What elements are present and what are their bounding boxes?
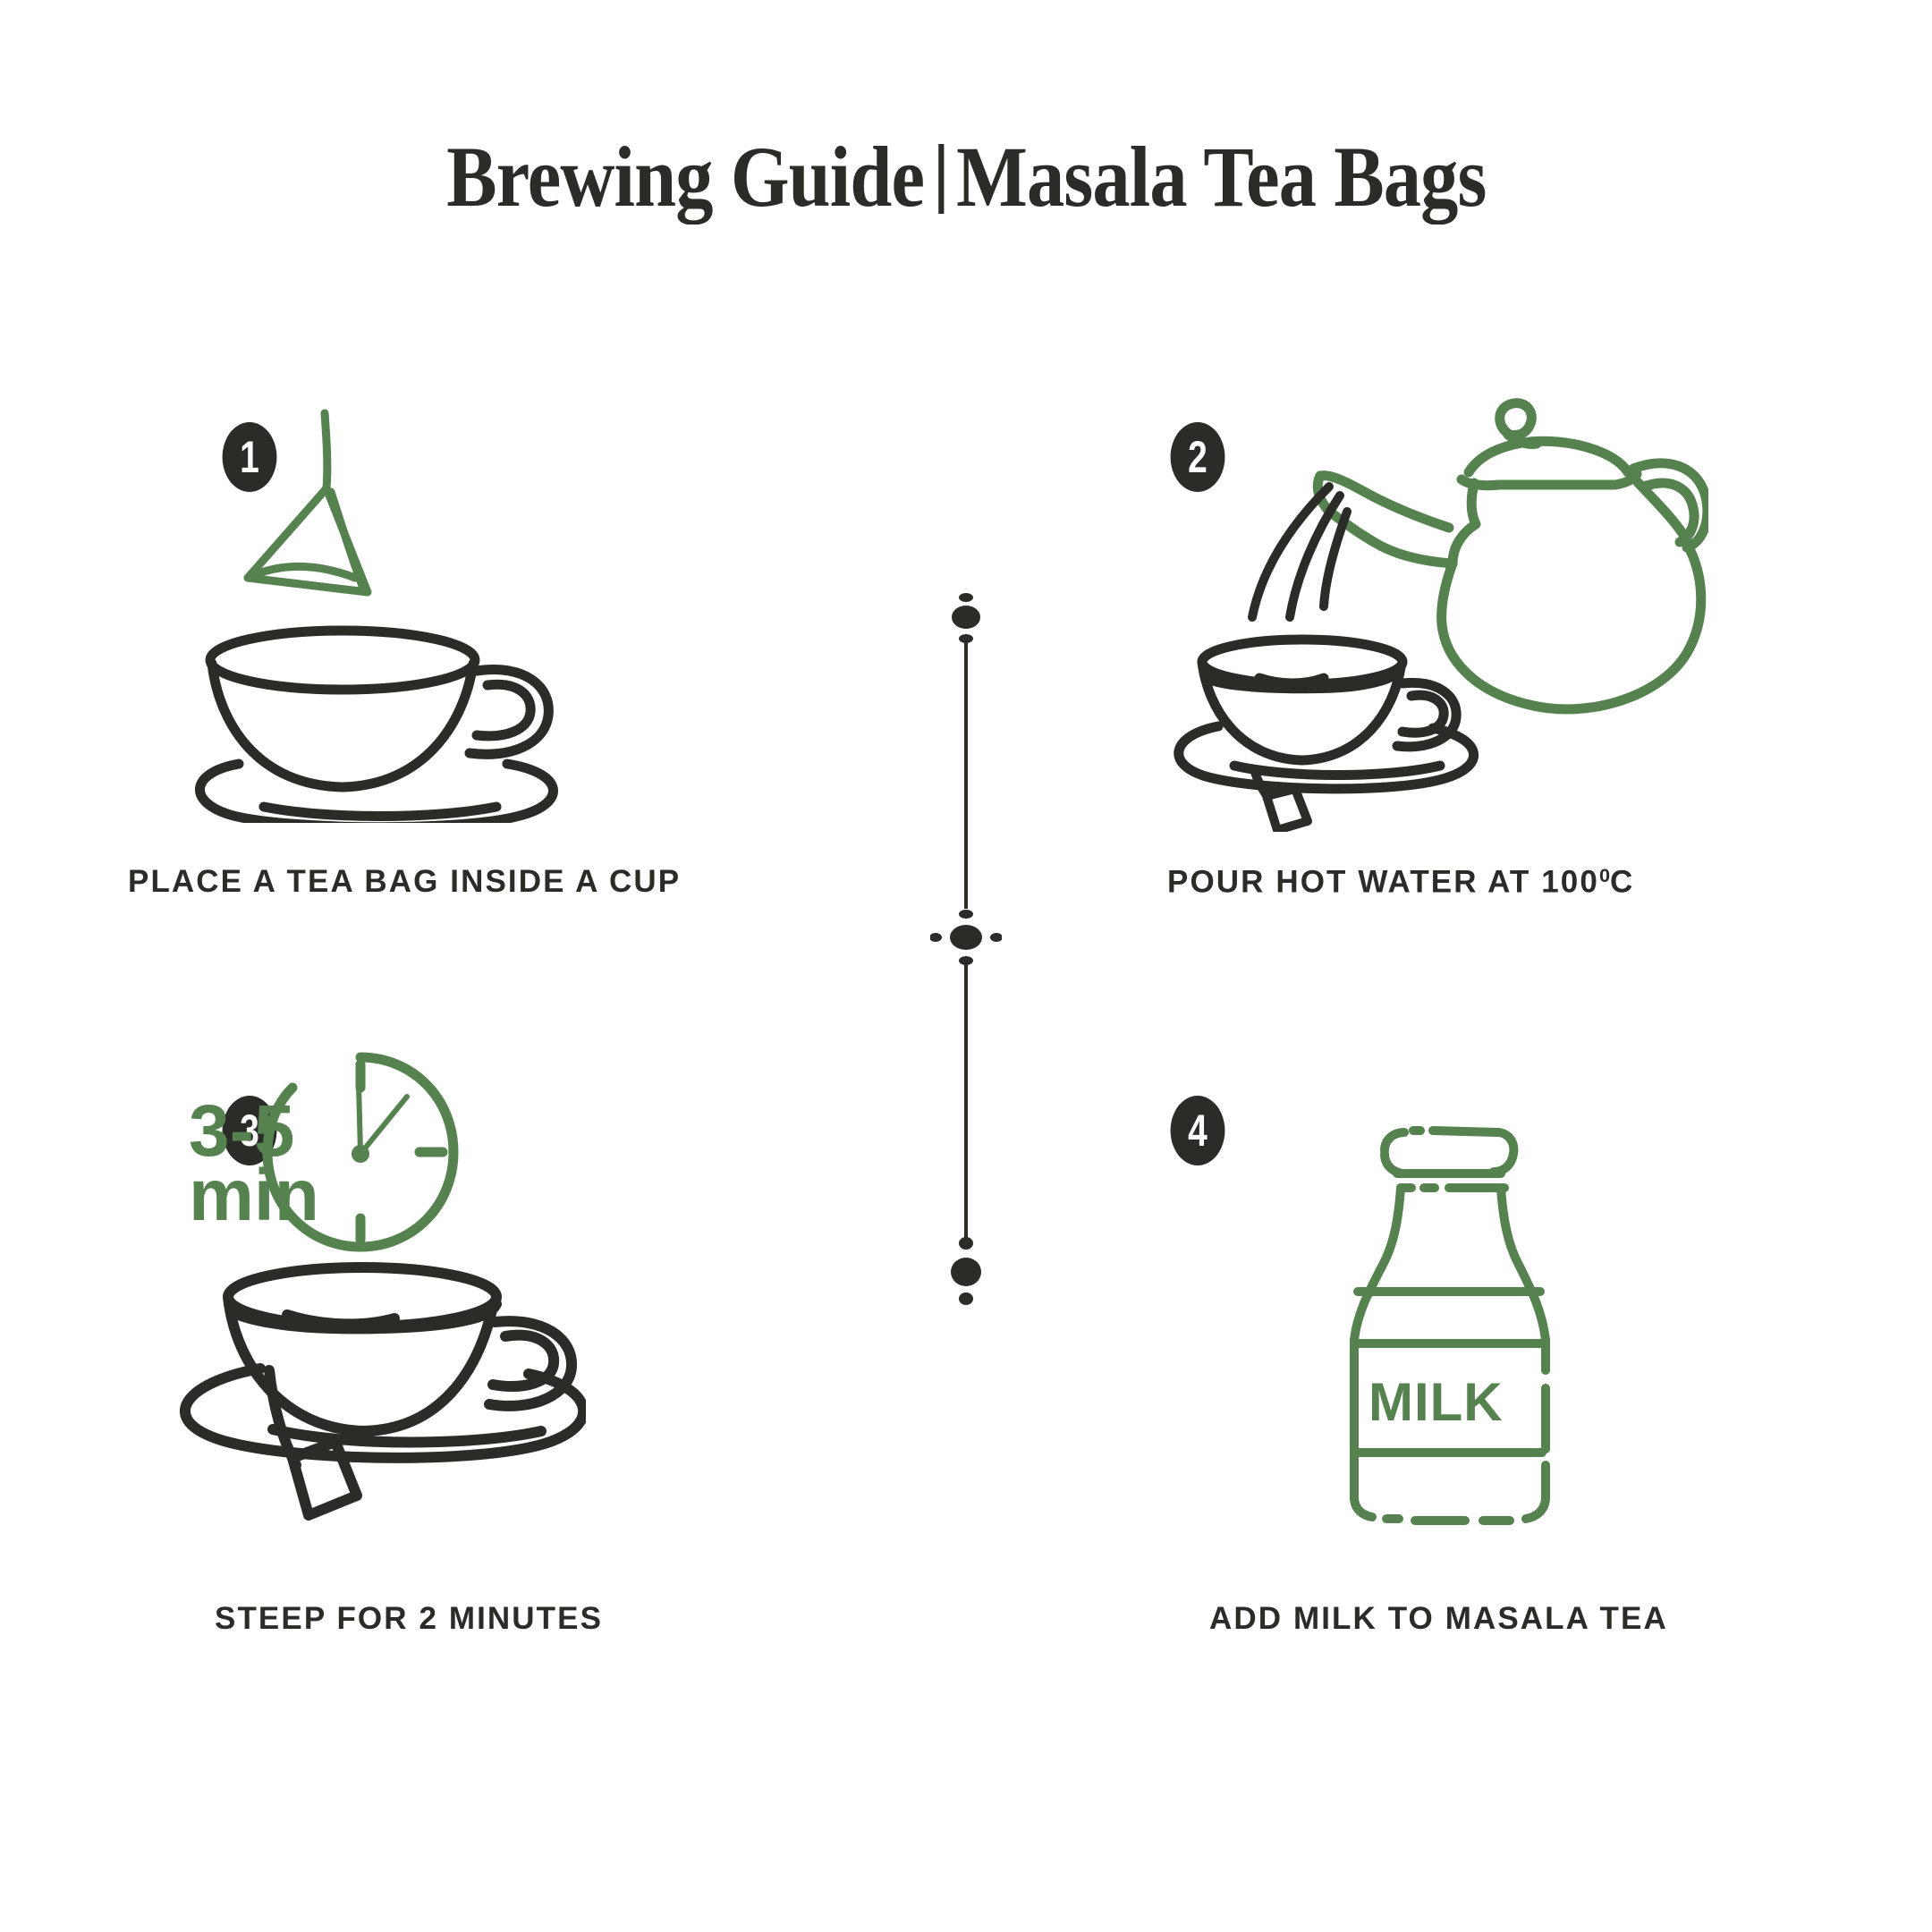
divider-line-lower (964, 962, 968, 1238)
page-title-left: Brewing Guide (446, 129, 924, 225)
step-number-badge-4: 4 (1171, 1096, 1225, 1165)
clock-hands-shape (359, 1084, 407, 1154)
step-2-caption: POUR HOT WATER AT 1000C (1167, 864, 1634, 900)
divider (930, 590, 1002, 1315)
step-2-caption-prefix: POUR HOT WATER AT 100 (1167, 864, 1599, 899)
divider-line-upper (964, 640, 968, 909)
milk-bottle-shape (1354, 1131, 1546, 1521)
divider-ornament-bottom (951, 1237, 981, 1305)
title-separator-bar (938, 144, 944, 214)
step-2-caption-suffix: C (1610, 864, 1634, 899)
step-3-caption: STEEP FOR 2 MINUTES (215, 1601, 603, 1637)
timer-label-line-2: min (189, 1155, 319, 1236)
divider-ornament-top (952, 593, 980, 643)
step-4-caption: ADD MILK TO MASALA TEA (1209, 1601, 1668, 1637)
milk-bottle-label: MILK (1368, 1372, 1504, 1432)
divider-ornament-middle (930, 910, 1002, 965)
step-1-caption: PLACE A TEA BAG INSIDE A CUP (128, 864, 681, 900)
pyramid-tea-bag-shape (248, 413, 368, 592)
milk-bottle-icon: MILK (1315, 1109, 1565, 1538)
cup-shape (210, 631, 548, 787)
page-title-right: Masala Tea Bags (956, 129, 1486, 225)
water-stream-shape (1252, 487, 1347, 617)
step-2-caption-superscript: 0 (1599, 864, 1610, 886)
clock-center-dot (352, 1145, 369, 1163)
brewing-guide-poster: Brewing GuideMasala Tea Bags 1 (0, 0, 1932, 1932)
page-title: Brewing GuideMasala Tea Bags (0, 132, 1932, 223)
saucer-shape (199, 764, 553, 823)
teapot-pouring-into-cup-icon (1154, 394, 1708, 832)
teapot-shape (1318, 403, 1707, 709)
teabag-above-cup-icon (192, 402, 568, 823)
cup-shape (1202, 640, 1456, 760)
clock-and-steeping-cup-icon: 3-5 min (139, 1038, 586, 1592)
